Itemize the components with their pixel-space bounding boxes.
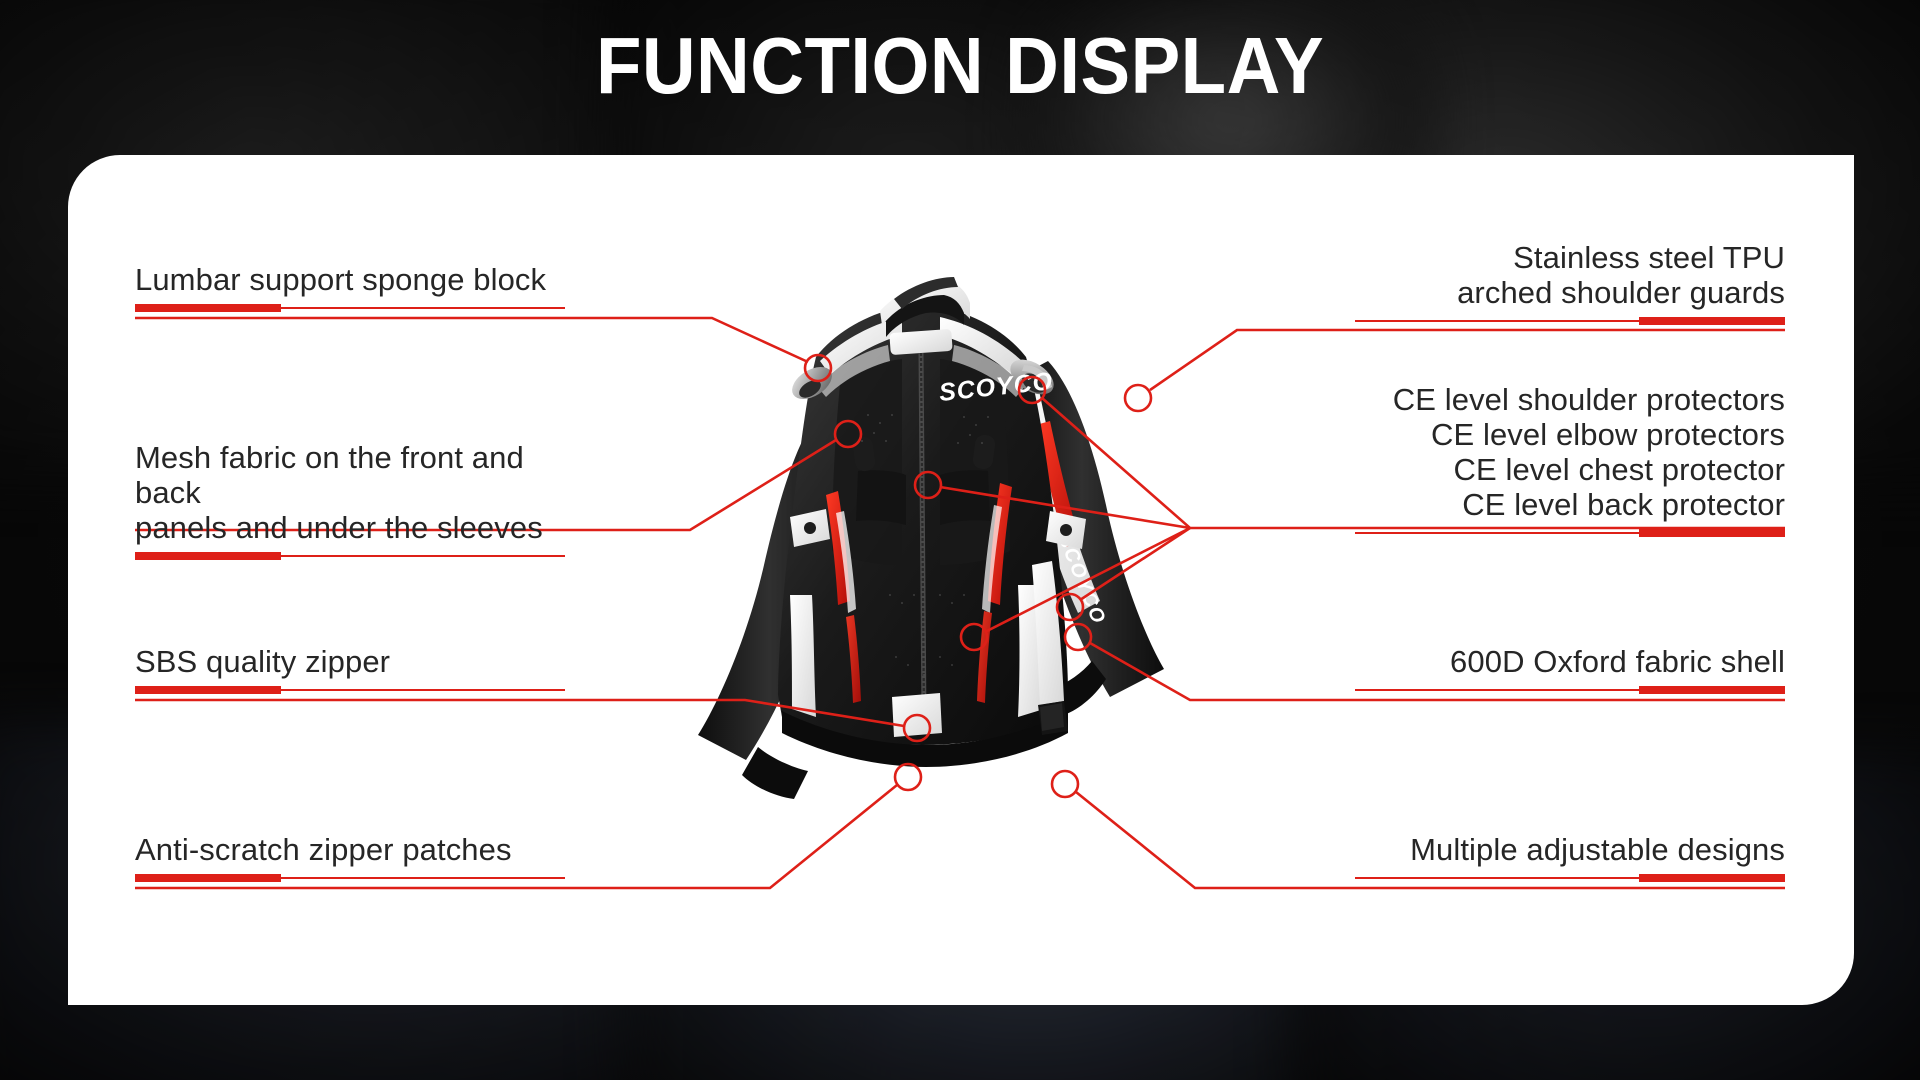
connector-tpu-guards bbox=[1150, 330, 1785, 390]
callout-sbs-zipper[interactable]: SBS quality zipper bbox=[135, 644, 565, 694]
connector-ce-elbow bbox=[1080, 528, 1190, 600]
connector-lumbar-support bbox=[135, 318, 808, 362]
callout-rule bbox=[135, 686, 565, 694]
marker-mesh-fabric bbox=[835, 421, 861, 447]
marker-oxford-shell bbox=[1065, 624, 1091, 650]
callout-rule bbox=[135, 552, 565, 560]
marker-ce-elbow bbox=[1057, 594, 1083, 620]
callout-label-text: CE level shoulder protectors CE level el… bbox=[1355, 382, 1785, 522]
callout-rule-thick bbox=[135, 304, 281, 312]
callout-label-text: 600D Oxford fabric shell bbox=[1355, 644, 1785, 679]
marker-adjustable bbox=[1052, 771, 1078, 797]
callout-tpu-shoulder-guards[interactable]: Stainless steel TPU arched shoulder guar… bbox=[1355, 240, 1785, 325]
callout-label-text: Multiple adjustable designs bbox=[1355, 832, 1785, 867]
callout-label-text: Anti-scratch zipper patches bbox=[135, 832, 565, 867]
callout-adjustable-designs[interactable]: Multiple adjustable designs bbox=[1355, 832, 1785, 882]
marker-tpu-guards bbox=[1125, 385, 1151, 411]
callout-rule bbox=[1355, 529, 1785, 537]
callout-rule-thick bbox=[1639, 686, 1785, 694]
callout-rule-thick bbox=[135, 552, 281, 560]
connector-ce-chest bbox=[940, 487, 1190, 528]
callout-rule bbox=[1355, 874, 1785, 882]
callout-rule-thick bbox=[1639, 874, 1785, 882]
marker-lumbar-support bbox=[805, 355, 831, 381]
connector-ce-back bbox=[985, 528, 1190, 632]
callout-rule bbox=[1355, 317, 1785, 325]
callout-label-text: Mesh fabric on the front and back panels… bbox=[135, 440, 565, 545]
marker-anti-scratch bbox=[895, 764, 921, 790]
callout-rule bbox=[135, 874, 565, 882]
connector-sbs-zipper bbox=[135, 700, 904, 726]
callout-label-text: SBS quality zipper bbox=[135, 644, 565, 679]
callout-rule bbox=[135, 304, 565, 312]
callout-anti-scratch-patches[interactable]: Anti-scratch zipper patches bbox=[135, 832, 565, 882]
callout-rule bbox=[1355, 686, 1785, 694]
marker-sbs-zipper bbox=[904, 715, 930, 741]
callout-lumbar-support[interactable]: Lumbar support sponge block bbox=[135, 262, 565, 312]
callout-label-text: Lumbar support sponge block bbox=[135, 262, 565, 297]
callout-rule-thick bbox=[135, 874, 281, 882]
callout-rule-thick bbox=[135, 686, 281, 694]
callout-ce-protectors[interactable]: CE level shoulder protectors CE level el… bbox=[1355, 382, 1785, 537]
marker-ce-shoulder bbox=[1019, 377, 1045, 403]
callout-rule-thick bbox=[1639, 529, 1785, 537]
callout-rule-thick bbox=[1639, 317, 1785, 325]
marker-ce-back bbox=[961, 624, 987, 650]
callout-oxford-shell[interactable]: 600D Oxford fabric shell bbox=[1355, 644, 1785, 694]
marker-ce-chest bbox=[915, 472, 941, 498]
callout-label-text: Stainless steel TPU arched shoulder guar… bbox=[1355, 240, 1785, 310]
callout-mesh-fabric[interactable]: Mesh fabric on the front and back panels… bbox=[135, 440, 565, 560]
